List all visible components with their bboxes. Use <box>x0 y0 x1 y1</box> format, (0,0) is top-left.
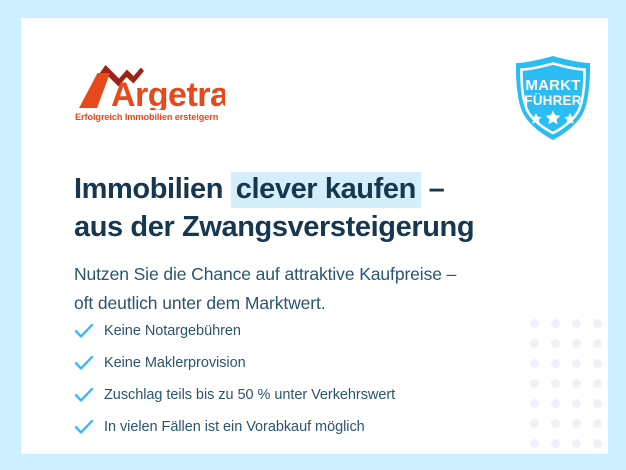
dot <box>593 419 602 428</box>
list-item-label: In vielen Fällen ist ein Vorabkauf mögli… <box>104 419 365 435</box>
headline-post: – <box>421 173 444 205</box>
logo-tagline: Erfolgreich Immobilien ersteigern <box>75 112 218 122</box>
list-item: Keine Notargebühren <box>74 316 544 346</box>
check-icon <box>74 419 104 435</box>
dot <box>593 339 602 348</box>
dot <box>572 379 581 388</box>
headline-line-2: aus der Zwangsversteigerung <box>74 211 474 243</box>
svg-text:MARKT: MARKT <box>525 77 580 94</box>
headline-pre: Immobilien <box>74 173 231 205</box>
dot <box>572 319 581 328</box>
svg-text:FÜHRER: FÜHRER <box>524 93 581 108</box>
dot <box>572 399 581 408</box>
dot <box>551 359 560 368</box>
list-item: Keine Maklerprovision <box>74 348 544 378</box>
dot <box>593 379 602 388</box>
subheading-line-1: Nutzen Sie die Chance auf attraktive Kau… <box>74 264 456 284</box>
dot <box>551 339 560 348</box>
subheading-line-2: oft deutlich unter dem Marktwert. <box>74 293 326 313</box>
dot <box>551 319 560 328</box>
check-icon <box>74 323 104 339</box>
dot <box>593 319 602 328</box>
dot <box>551 399 560 408</box>
list-item: In vielen Fällen ist ein Vorabkauf mögli… <box>74 412 544 442</box>
dot <box>572 339 581 348</box>
subheading: Nutzen Sie die Chance auf attraktive Kau… <box>74 260 584 318</box>
dot <box>593 359 602 368</box>
page-title: Immobilien clever kaufen – aus der Zwang… <box>74 170 574 246</box>
market-leader-badge: MARKT FÜHRER <box>510 54 596 142</box>
dot <box>593 399 602 408</box>
dot <box>551 379 560 388</box>
dot <box>572 359 581 368</box>
shield-icon: MARKT FÜHRER <box>510 54 596 142</box>
list-item-label: Zuschlag teils bis zu 50 % unter Verkehr… <box>104 387 395 403</box>
list-item-label: Keine Notargebühren <box>104 323 241 339</box>
check-icon <box>74 387 104 403</box>
dot <box>593 439 602 448</box>
promo-banner: Argetra Erfolgreich Immobilien ersteiger… <box>0 0 626 470</box>
banner-canvas: Argetra Erfolgreich Immobilien ersteiger… <box>21 18 608 454</box>
argetra-logo[interactable]: Argetra Erfolgreich Immobilien ersteiger… <box>75 62 225 130</box>
dot <box>551 419 560 428</box>
dot <box>551 439 560 448</box>
svg-text:Argetra: Argetra <box>111 76 225 110</box>
argetra-roof-a-icon: Argetra <box>75 62 225 110</box>
benefit-list: Keine Notargebühren Keine Maklerprovisio… <box>74 316 544 444</box>
dot <box>572 439 581 448</box>
check-icon <box>74 355 104 371</box>
list-item: Zuschlag teils bis zu 50 % unter Verkehr… <box>74 380 544 410</box>
list-item-label: Keine Maklerprovision <box>104 355 246 371</box>
headline-line-1: Immobilien clever kaufen – <box>74 172 444 208</box>
headline-highlight: clever kaufen <box>231 172 421 208</box>
dot <box>572 419 581 428</box>
